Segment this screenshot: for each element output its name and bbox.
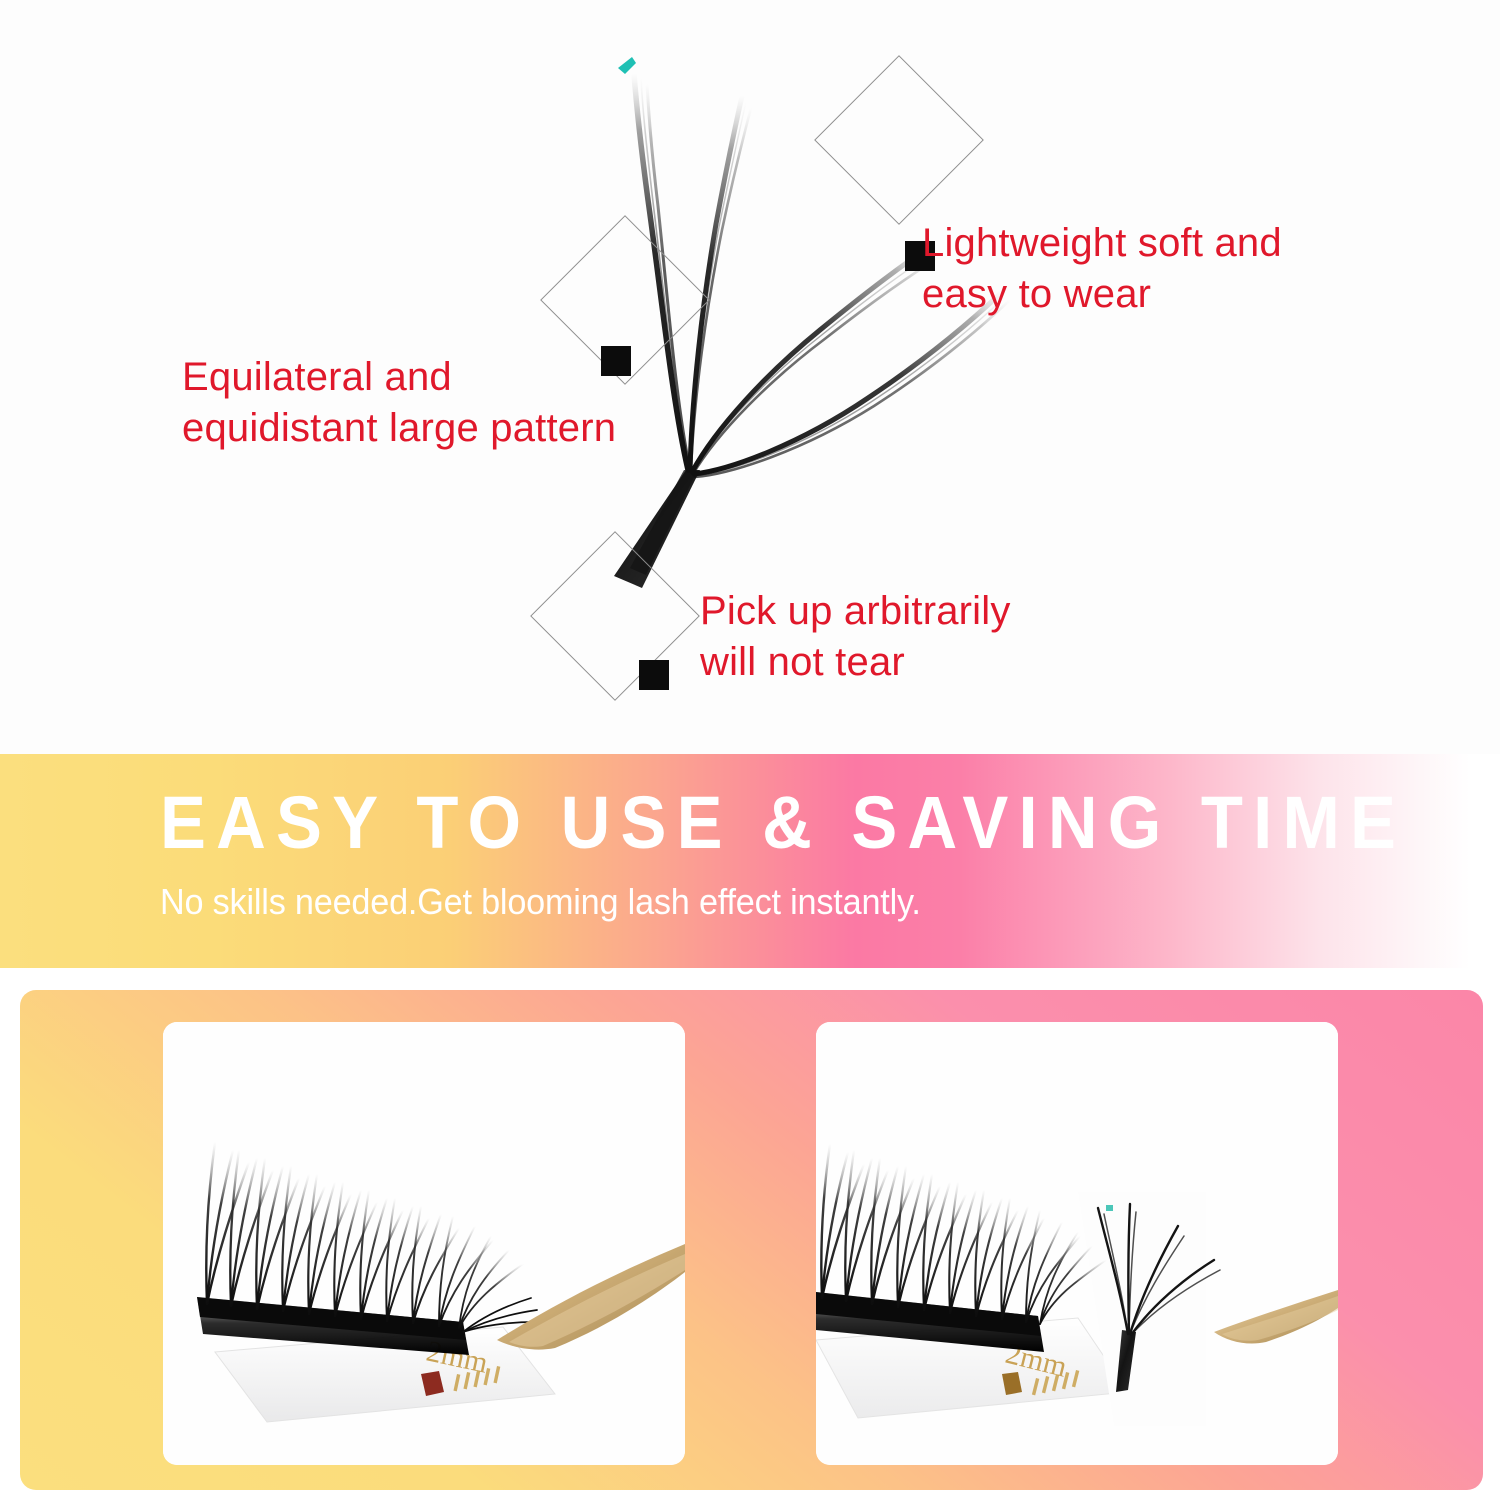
feature-diagram-section: Equilateral and equidistant large patter… bbox=[0, 0, 1500, 754]
callout-marker-pickup bbox=[535, 540, 715, 720]
photo-card-tray-with-tweezer: 2mm bbox=[163, 1022, 685, 1465]
lash-tray-detached-fan-photo: 2mm bbox=[816, 1022, 1338, 1465]
lash-tray-tweezer-photo: 2mm bbox=[163, 1022, 685, 1465]
diamond-outline-icon bbox=[814, 55, 984, 225]
square-dot-icon bbox=[639, 660, 669, 690]
lash-diagram-stage: Equilateral and equidistant large patter… bbox=[0, 0, 1500, 754]
product-feature-page: Equilateral and equidistant large patter… bbox=[0, 0, 1500, 1500]
callout-text-lightweight: Lightweight soft and easy to wear bbox=[922, 218, 1282, 320]
callout-marker-lightweight bbox=[815, 64, 995, 244]
callout-text-equilateral: Equilateral and equidistant large patter… bbox=[182, 352, 616, 454]
teal-accent-icon bbox=[616, 54, 642, 78]
product-photo-panel: 2mm bbox=[20, 990, 1483, 1490]
banner-headline: EASY TO USE & SAVING TIME bbox=[160, 786, 1406, 860]
banner-subheadline: No skills needed.Get blooming lash effec… bbox=[160, 884, 921, 920]
photo-card-tray-with-detached-fan: 2mm bbox=[816, 1022, 1338, 1465]
callout-text-pickup: Pick up arbitrarily will not tear bbox=[700, 586, 1011, 688]
diamond-outline-icon bbox=[530, 531, 700, 701]
